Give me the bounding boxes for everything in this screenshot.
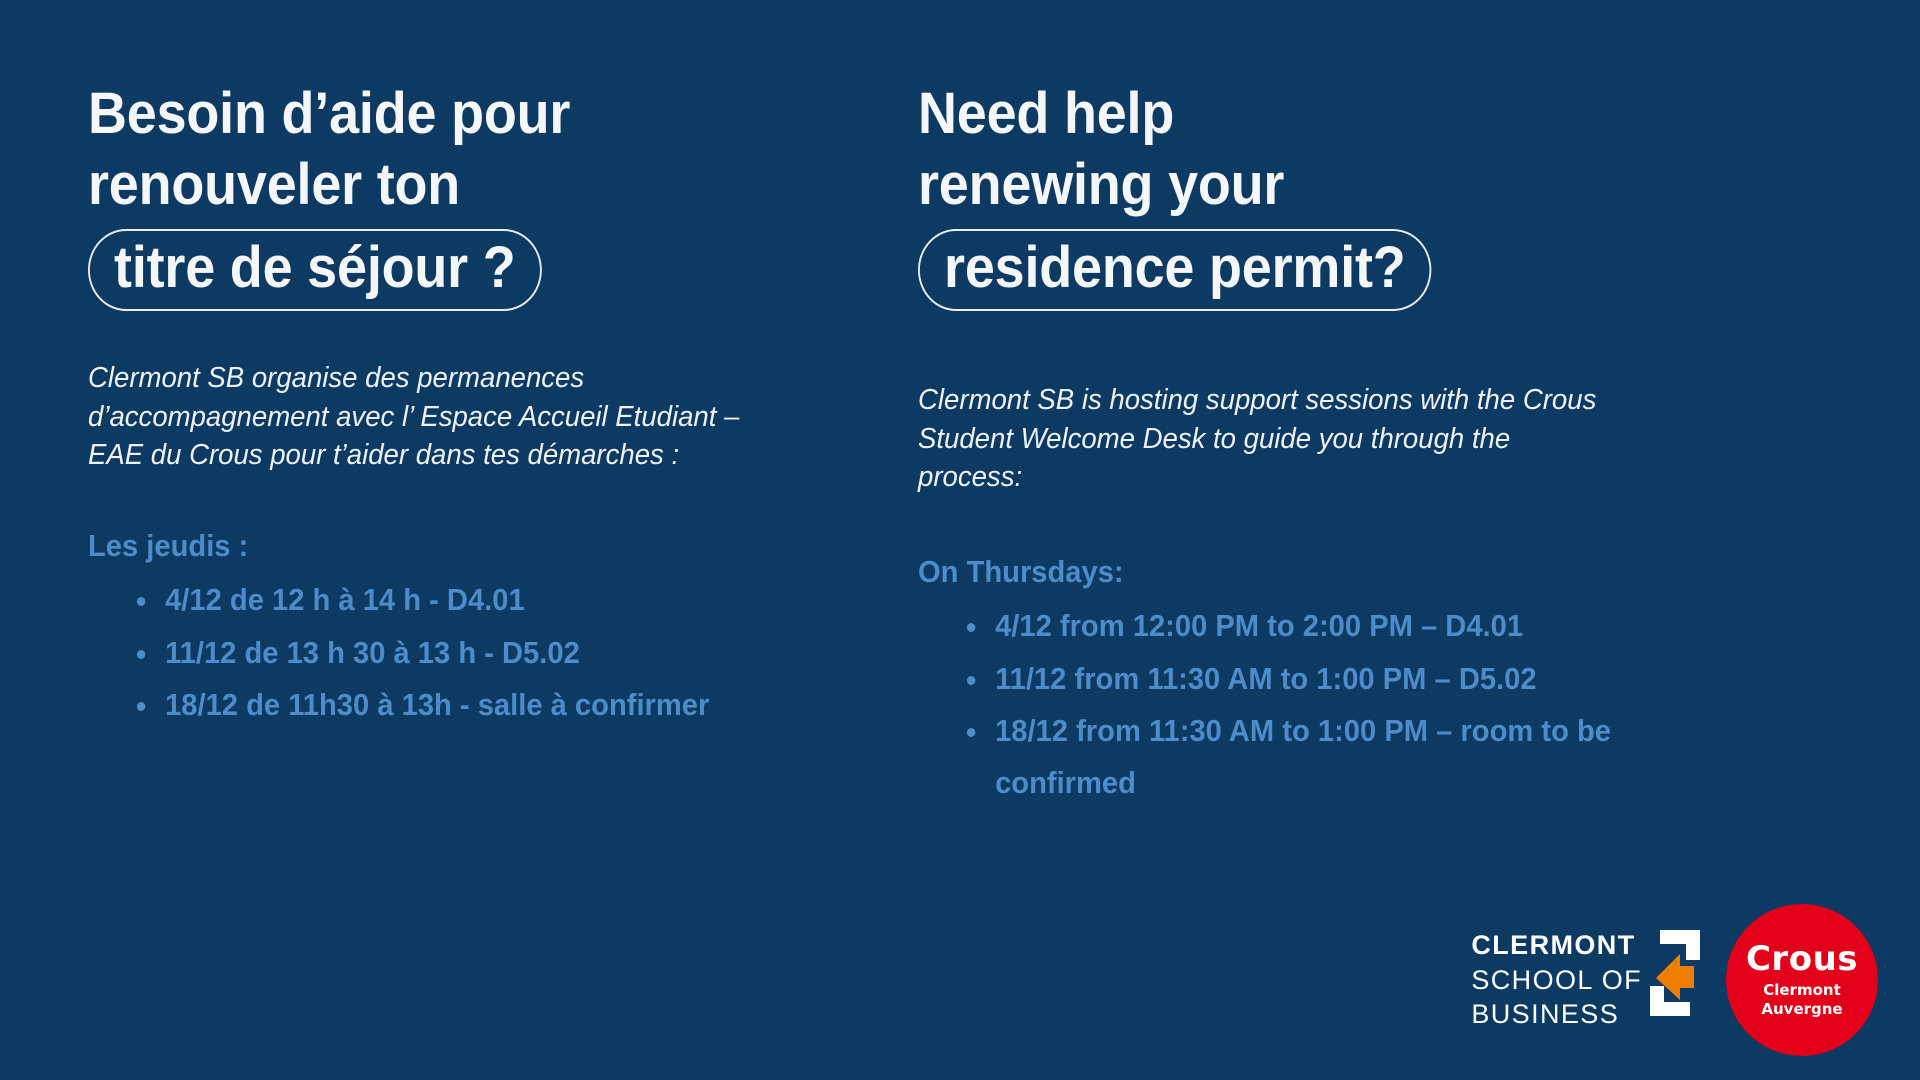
csb-wordmark: CLERMONT SCHOOL OF BUSINESS [1471,928,1642,1032]
clermont-school-of-business-logo: CLERMONT SCHOOL OF BUSINESS [1471,928,1700,1032]
csb-line-3: BUSINESS [1471,997,1642,1032]
english-heading: Need help renewing your residence permit… [918,78,1794,311]
english-heading-pill-wrap: residence permit? [918,221,1794,312]
english-schedule-list: 4/12 from 12:00 PM to 2:00 PM – D4.01 11… [918,600,1803,810]
english-column: Need help renewing your residence permit… [890,0,1920,810]
list-item: 11/12 from 11:30 AM to 1:00 PM – D5.02 [961,653,1709,705]
crous-clermont-auvergne-logo: Crous Clermont Auvergne [1726,904,1878,1056]
english-heading-line-2: renewing your [918,149,1794,220]
french-heading-pill: titre de séjour ? [88,229,542,312]
crous-subline-2: Auvergne [1761,1000,1842,1018]
list-item: 4/12 from 12:00 PM to 2:00 PM – D4.01 [961,600,1709,652]
csb-line-1: CLERMONT [1471,928,1642,963]
french-heading-line-1: Besoin d’aide pour [88,78,834,149]
french-schedule-title: Les jeudis : [88,527,842,564]
french-intro-paragraph: Clermont SB organise des permanences d’a… [88,359,791,475]
crous-subline-1: Clermont [1763,981,1841,999]
crous-subline: Clermont Auvergne [1761,981,1842,1018]
list-item: 18/12 from 11:30 AM to 1:00 PM – room to… [961,705,1709,810]
list-item: 4/12 de 12 h à 14 h - D4.01 [131,574,842,626]
crous-wordmark: Crous [1746,942,1858,976]
english-intro-paragraph: Clermont SB is hosting support sessions … [918,381,1621,497]
csb-line-2: SCHOOL OF [1471,963,1642,998]
logo-row: CLERMONT SCHOOL OF BUSINESS Crous Clermo… [1471,904,1878,1056]
french-heading-pill-wrap: titre de séjour ? [88,221,834,312]
english-schedule-title: On Thursdays: [918,553,1803,590]
french-heading-line-2: renouveler ton [88,149,834,220]
list-item: 11/12 de 13 h 30 à 13 h - D5.02 [131,627,842,679]
clermont-sb-arrow-mark-icon [1650,930,1700,1016]
poster-canvas: Besoin d’aide pour renouveler ton titre … [0,0,1920,1080]
french-column: Besoin d’aide pour renouveler ton titre … [0,0,890,731]
english-heading-pill: residence permit? [918,229,1432,312]
list-item: 18/12 de 11h30 à 13h - salle à confirmer [131,679,842,731]
french-heading: Besoin d’aide pour renouveler ton titre … [88,78,834,311]
french-schedule-list: 4/12 de 12 h à 14 h - D4.01 11/12 de 13 … [88,574,842,731]
english-heading-line-1: Need help [918,78,1794,149]
